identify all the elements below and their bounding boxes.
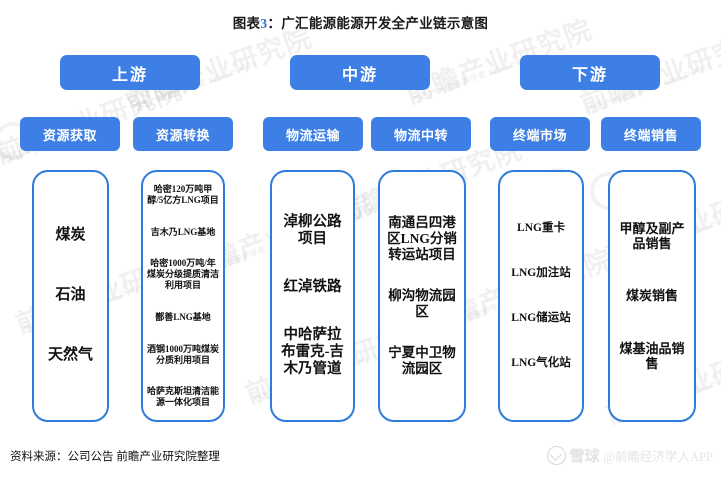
column-items: LNG重卡 LNG加注站 LNG储运站 LNG气化站 bbox=[500, 172, 582, 420]
list-item: LNG加注站 bbox=[504, 267, 578, 281]
list-item: 哈密120万吨甲醇/5亿方LNG项目 bbox=[146, 184, 220, 206]
group-header-downstream[interactable]: 下游 bbox=[520, 55, 660, 90]
credit-app-label: @前瞻经济学人APP bbox=[604, 446, 713, 465]
column-items: 哈密120万吨甲醇/5亿方LNG项目 吉木乃LNG基地 哈密1000万吨/年煤炭… bbox=[143, 172, 223, 420]
sub-header-label: 资源转换 bbox=[156, 125, 210, 144]
column-items: 淖柳公路项目 红淖铁路 中哈萨拉布雷克-吉木乃管道 bbox=[272, 172, 353, 420]
credit-watermark: 雪球 @前瞻经济学人APP bbox=[547, 445, 713, 466]
list-item: 煤炭 bbox=[38, 227, 103, 245]
group-header-label: 下游 bbox=[572, 61, 608, 85]
group-header-label: 上游 bbox=[112, 61, 148, 85]
title-rest: ：广汇能源能源开发全产业链示意图 bbox=[267, 16, 488, 31]
diagram-stage: 上游 中游 下游 资源获取 资源转换 物流运输 物流中转 终端市场 终端销售 煤… bbox=[0, 0, 721, 478]
list-item: 南通吕四港区LNG分销转运站项目 bbox=[385, 215, 459, 263]
column-resource-conversion[interactable]: 哈密120万吨甲醇/5亿方LNG项目 吉木乃LNG基地 哈密1000万吨/年煤炭… bbox=[141, 170, 225, 422]
list-item: 煤基油品销售 bbox=[614, 341, 690, 372]
group-header-upstream[interactable]: 上游 bbox=[60, 55, 200, 90]
sub-header-resource-conversion[interactable]: 资源转换 bbox=[133, 117, 233, 151]
sub-header-terminal-sales[interactable]: 终端销售 bbox=[601, 117, 701, 151]
sub-header-label: 物流运输 bbox=[286, 125, 340, 144]
column-items: 煤炭 石油 天然气 bbox=[34, 172, 107, 420]
list-item: 柳沟物流园区 bbox=[385, 288, 459, 320]
chart-title: 图表3：广汇能源能源开发全产业链示意图 bbox=[0, 12, 721, 32]
list-item: 哈萨克斯坦清洁能源一体化项目 bbox=[146, 386, 220, 408]
list-item: 石油 bbox=[38, 287, 103, 305]
list-item: 红淖铁路 bbox=[277, 279, 348, 296]
column-items: 甲醇及副产品销售 煤炭销售 煤基油品销售 bbox=[610, 172, 694, 420]
list-item: 中哈萨拉布雷克-吉木乃管道 bbox=[277, 327, 348, 378]
sub-header-label: 终端市场 bbox=[513, 125, 567, 144]
list-item: LNG气化站 bbox=[504, 357, 578, 371]
sub-header-logistics-transport[interactable]: 物流运输 bbox=[263, 117, 363, 151]
list-item: 哈密1000万吨/年煤炭分级提质清洁利用项目 bbox=[146, 258, 220, 290]
xueqiu-brand-label: 雪球 bbox=[570, 445, 600, 466]
title-prefix: 图表 bbox=[233, 16, 261, 31]
column-items: 南通吕四港区LNG分销转运站项目 柳沟物流园区 宁夏中卫物流园区 bbox=[380, 172, 464, 420]
list-item: 宁夏中卫物流园区 bbox=[385, 345, 459, 377]
list-item: 酒钢1000万吨煤炭分质利用项目 bbox=[146, 344, 220, 366]
list-item: 甲醇及副产品销售 bbox=[614, 221, 690, 252]
list-item: LNG储运站 bbox=[504, 312, 578, 326]
sub-header-terminal-market[interactable]: 终端市场 bbox=[490, 117, 590, 151]
sub-header-resource-acquisition[interactable]: 资源获取 bbox=[20, 117, 120, 151]
sub-header-label: 物流中转 bbox=[394, 125, 448, 144]
column-terminal-market[interactable]: LNG重卡 LNG加注站 LNG储运站 LNG气化站 bbox=[498, 170, 584, 422]
column-terminal-sales[interactable]: 甲醇及副产品销售 煤炭销售 煤基油品销售 bbox=[608, 170, 696, 422]
group-header-midstream[interactable]: 中游 bbox=[290, 55, 430, 90]
list-item: 淖柳公路项目 bbox=[277, 214, 348, 248]
list-item: 吉木乃LNG基地 bbox=[146, 227, 220, 238]
column-logistics-transfer[interactable]: 南通吕四港区LNG分销转运站项目 柳沟物流园区 宁夏中卫物流园区 bbox=[378, 170, 466, 422]
list-item: 鄯善LNG基地 bbox=[146, 312, 220, 323]
list-item: 煤炭销售 bbox=[614, 288, 690, 303]
sub-header-label: 终端销售 bbox=[624, 125, 678, 144]
xueqiu-logo-icon bbox=[547, 446, 566, 465]
column-resource-acquisition[interactable]: 煤炭 石油 天然气 bbox=[32, 170, 109, 422]
list-item: LNG重卡 bbox=[504, 222, 578, 236]
list-item: 天然气 bbox=[38, 347, 103, 365]
sub-header-logistics-transfer[interactable]: 物流中转 bbox=[371, 117, 471, 151]
column-logistics-transport[interactable]: 淖柳公路项目 红淖铁路 中哈萨拉布雷克-吉木乃管道 bbox=[270, 170, 355, 422]
group-header-label: 中游 bbox=[342, 61, 378, 85]
source-note: 资料来源：公司公告 前瞻产业研究院整理 bbox=[10, 448, 220, 464]
sub-header-label: 资源获取 bbox=[43, 125, 97, 144]
